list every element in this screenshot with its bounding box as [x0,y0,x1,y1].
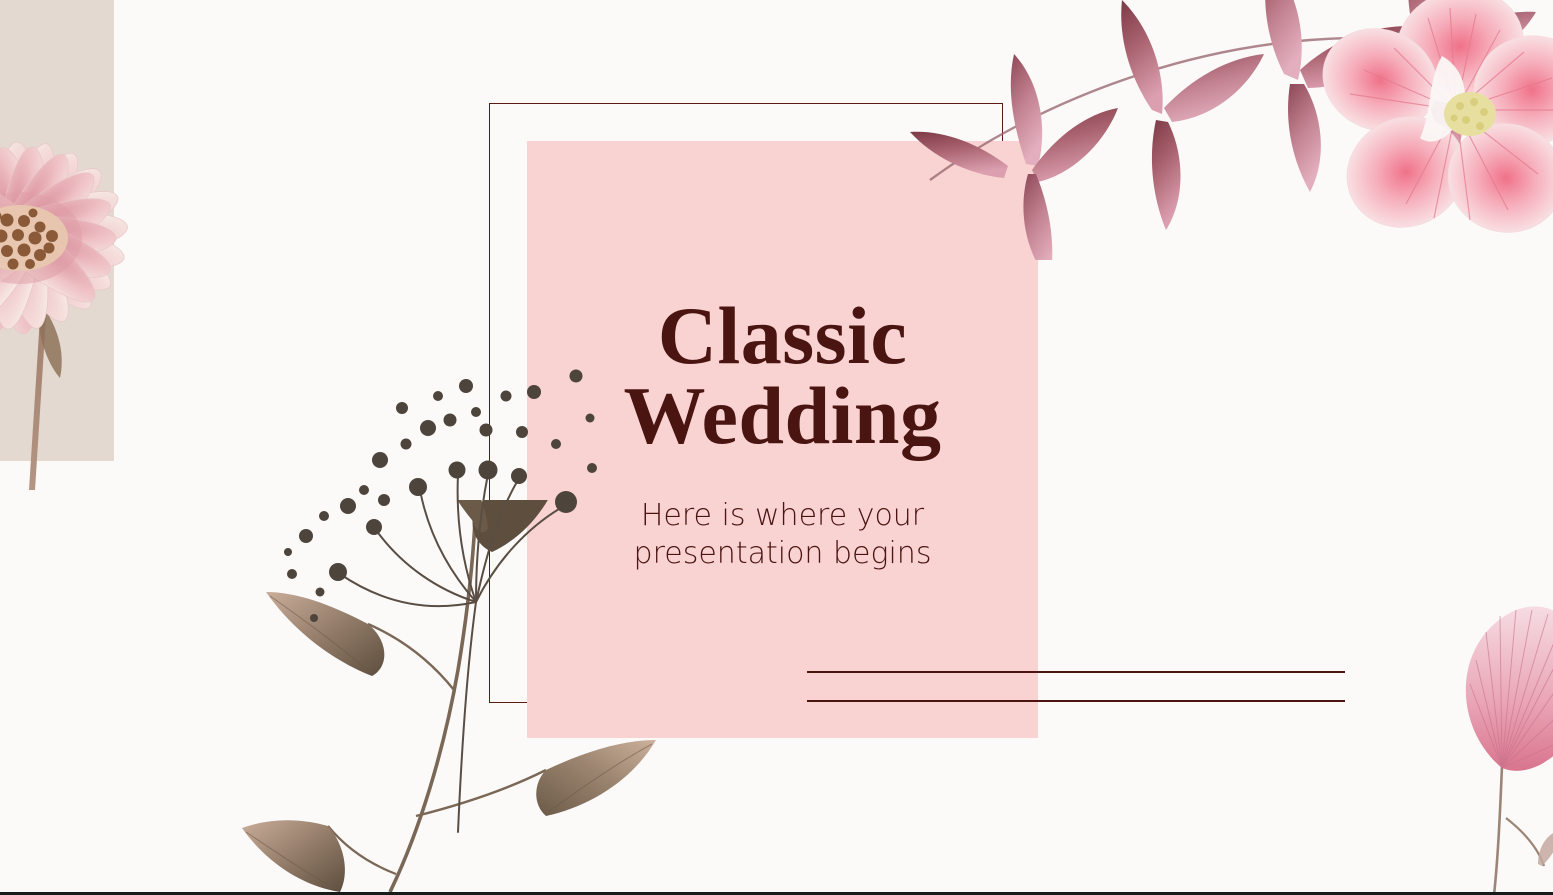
slide-subtitle: Here is where your presentation begins [527,497,1038,573]
slide-title: Classic Wedding [527,296,1038,457]
slide-title-container: Classic Wedding [527,296,1038,457]
hibiscus-flower-icon [1310,0,1553,260]
beige-block-decoration [0,0,114,461]
divider-rule-bottom [807,700,1345,702]
ginkgo-leaf-icon [1420,580,1553,895]
slide-subtitle-container: Here is where your presentation begins [527,497,1038,573]
presentation-slide: Classic Wedding Here is where your prese… [0,0,1553,895]
divider-rule-top [807,671,1345,673]
